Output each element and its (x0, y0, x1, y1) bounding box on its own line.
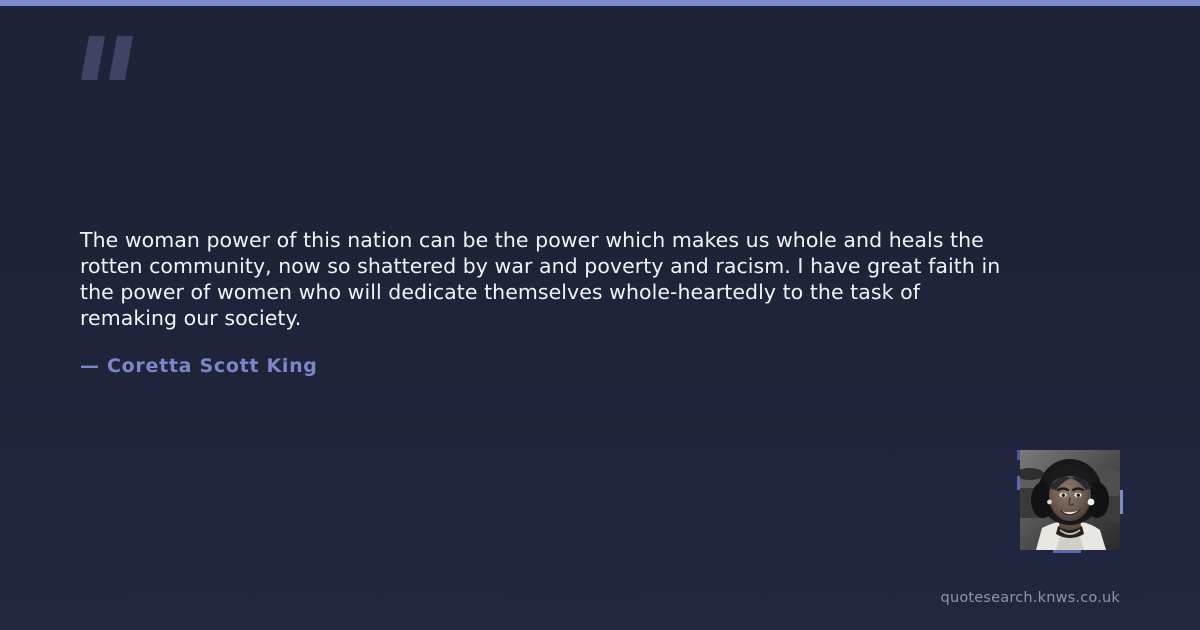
portrait-photo (1020, 450, 1120, 550)
portrait-accent-right (1120, 490, 1123, 514)
source-url: quotesearch.knws.co.uk (941, 590, 1120, 606)
author-portrait (1020, 450, 1120, 550)
quote-text-block: The woman power of this nation can be th… (80, 227, 1010, 331)
double-quote-open-icon (80, 34, 136, 84)
quote-text: The woman power of this nation can be th… (80, 227, 1010, 331)
top-accent-bar (0, 0, 1200, 6)
quote-attribution: — Coretta Scott King (80, 355, 318, 377)
quote-card: The woman power of this nation can be th… (0, 0, 1200, 630)
portrait-accent-bottom (1053, 550, 1081, 553)
